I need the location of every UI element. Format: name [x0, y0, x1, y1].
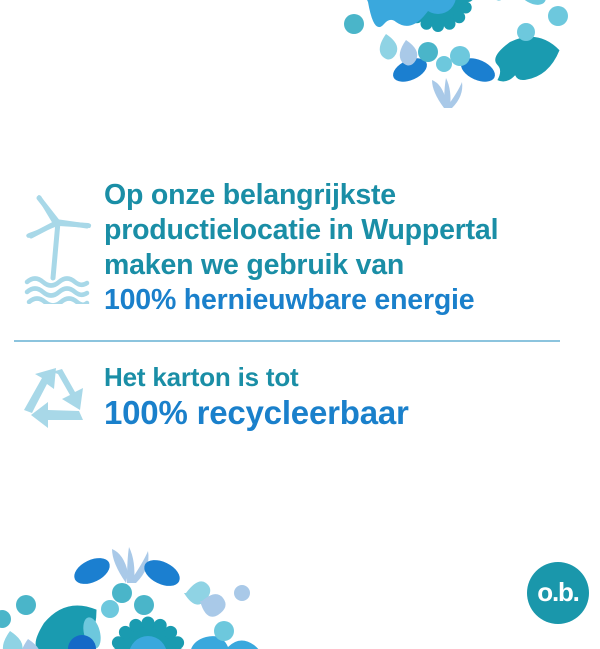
ob-logo[interactable]: o.b. — [527, 562, 589, 624]
energy-statement-row: Op onze belangrijkste productielocatie i… — [14, 178, 574, 318]
ob-logo-text: o.b. — [537, 579, 578, 605]
energy-line-1: Op onze belangrijkste — [104, 178, 574, 213]
energy-statement-text: Op onze belangrijkste productielocatie i… — [100, 178, 574, 318]
floral-cluster-top-icon — [282, 0, 600, 114]
floral-cluster-bottom-icon — [0, 527, 316, 649]
poster-canvas: Op onze belangrijkste productielocatie i… — [0, 0, 600, 649]
recycling-headline: Het karton is tot 100% recycleerbaar — [104, 362, 574, 433]
recycling-line-2-emphasis: 100% recycleerbaar — [104, 393, 574, 433]
energy-line-4-emphasis: 100% hernieuwbare energie — [104, 283, 574, 318]
energy-line-3: maken we gebruik van — [104, 248, 574, 283]
section-divider — [14, 340, 560, 342]
wind-turbine-icon — [14, 192, 100, 304]
energy-line-2: productielocatie in Wuppertal — [104, 213, 574, 248]
recycling-statement-row: Het karton is tot 100% recycleerbaar — [14, 362, 574, 433]
recycling-line-1: Het karton is tot — [104, 362, 574, 393]
recycling-icon — [14, 366, 100, 430]
energy-headline: Op onze belangrijkste productielocatie i… — [104, 178, 574, 318]
recycling-statement-text: Het karton is tot 100% recycleerbaar — [100, 362, 574, 433]
